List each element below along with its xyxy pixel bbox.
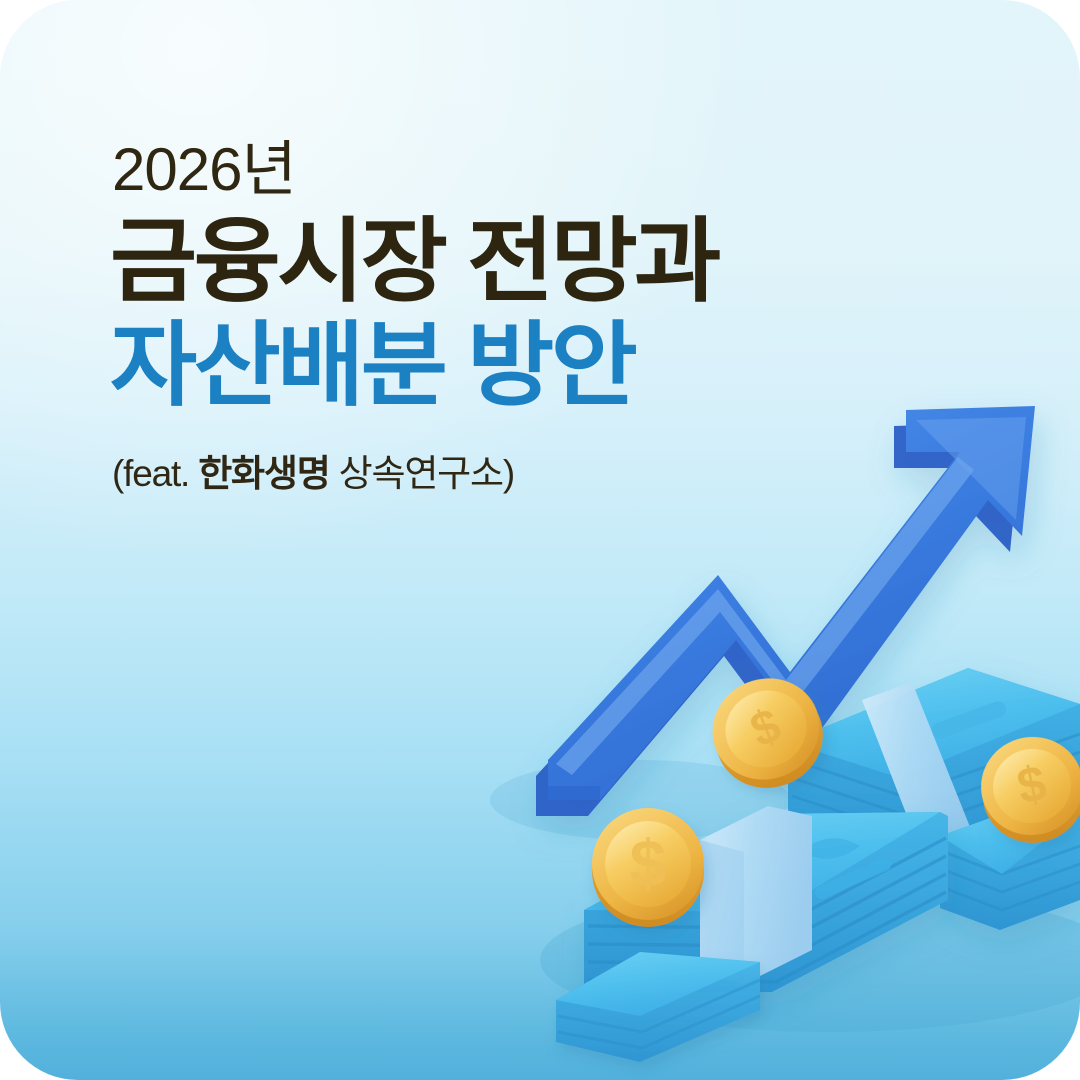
headline-line-2: 자산배분 방안 (110, 318, 996, 416)
coin-top-rim (697, 662, 835, 795)
stack-back-ridges (792, 734, 1080, 850)
subtitle-brand: 한화생명 (198, 453, 329, 494)
coin-top-dollar-sign: $ (744, 699, 789, 758)
title-block: 2026년 금융시장 전망과 자산배분 방안 (feat. 한화생명 상속연구소… (110, 140, 970, 497)
headline-line-1: 금융시장 전망과 (110, 214, 996, 312)
banknote-stack-back (788, 668, 1080, 870)
pile-ground-shadow (540, 888, 1080, 1032)
coin-top-face (714, 678, 818, 779)
stack-back-layers (788, 668, 1080, 862)
stack-front-top (584, 812, 940, 912)
stack-front-band-shade (700, 840, 744, 984)
coin-left-face (605, 821, 691, 907)
coin-left-dollar-sign: $ (630, 826, 667, 900)
coin-left: $ (592, 808, 704, 927)
stack-front-body (584, 812, 948, 992)
coin-right-face (986, 742, 1078, 831)
coin-right-rim (972, 727, 1080, 844)
coin-left-rim (592, 808, 704, 920)
stack-front-ridges (588, 838, 946, 982)
stack-back-top (788, 668, 1080, 778)
coin-top: $ (697, 662, 838, 804)
coin-right-dollar-sign: $ (1012, 755, 1051, 816)
year-label: 2026년 (112, 140, 970, 200)
banknote-stack-right (940, 800, 1080, 930)
bill-detail-mark (930, 699, 1009, 741)
banknote-stack-front (584, 806, 948, 992)
arrow-highlight (556, 457, 974, 775)
bill-oval-detail (800, 838, 860, 858)
coin-right: $ (972, 727, 1080, 852)
banknote-stack-bottom (556, 952, 760, 1062)
stack-back-band (862, 682, 980, 870)
arrow-ground-shadow (490, 760, 790, 840)
arrow-tail-cap (548, 786, 600, 800)
poster-card: $ $ $ 2026년 금융시장 전망과 자산배분 방안 (feat. 한화생명… (0, 0, 1080, 1080)
stack-front-band (700, 806, 812, 984)
subtitle-suffix: 상속연구소) (330, 453, 514, 494)
subtitle: (feat. 한화생명 상속연구소) (112, 443, 970, 497)
subtitle-prefix: (feat. (112, 453, 198, 494)
bill-strip-detail (813, 856, 893, 901)
coin-right-edge (974, 735, 1080, 852)
coin-top-edge (701, 671, 839, 804)
coin-left-edge (592, 815, 704, 927)
